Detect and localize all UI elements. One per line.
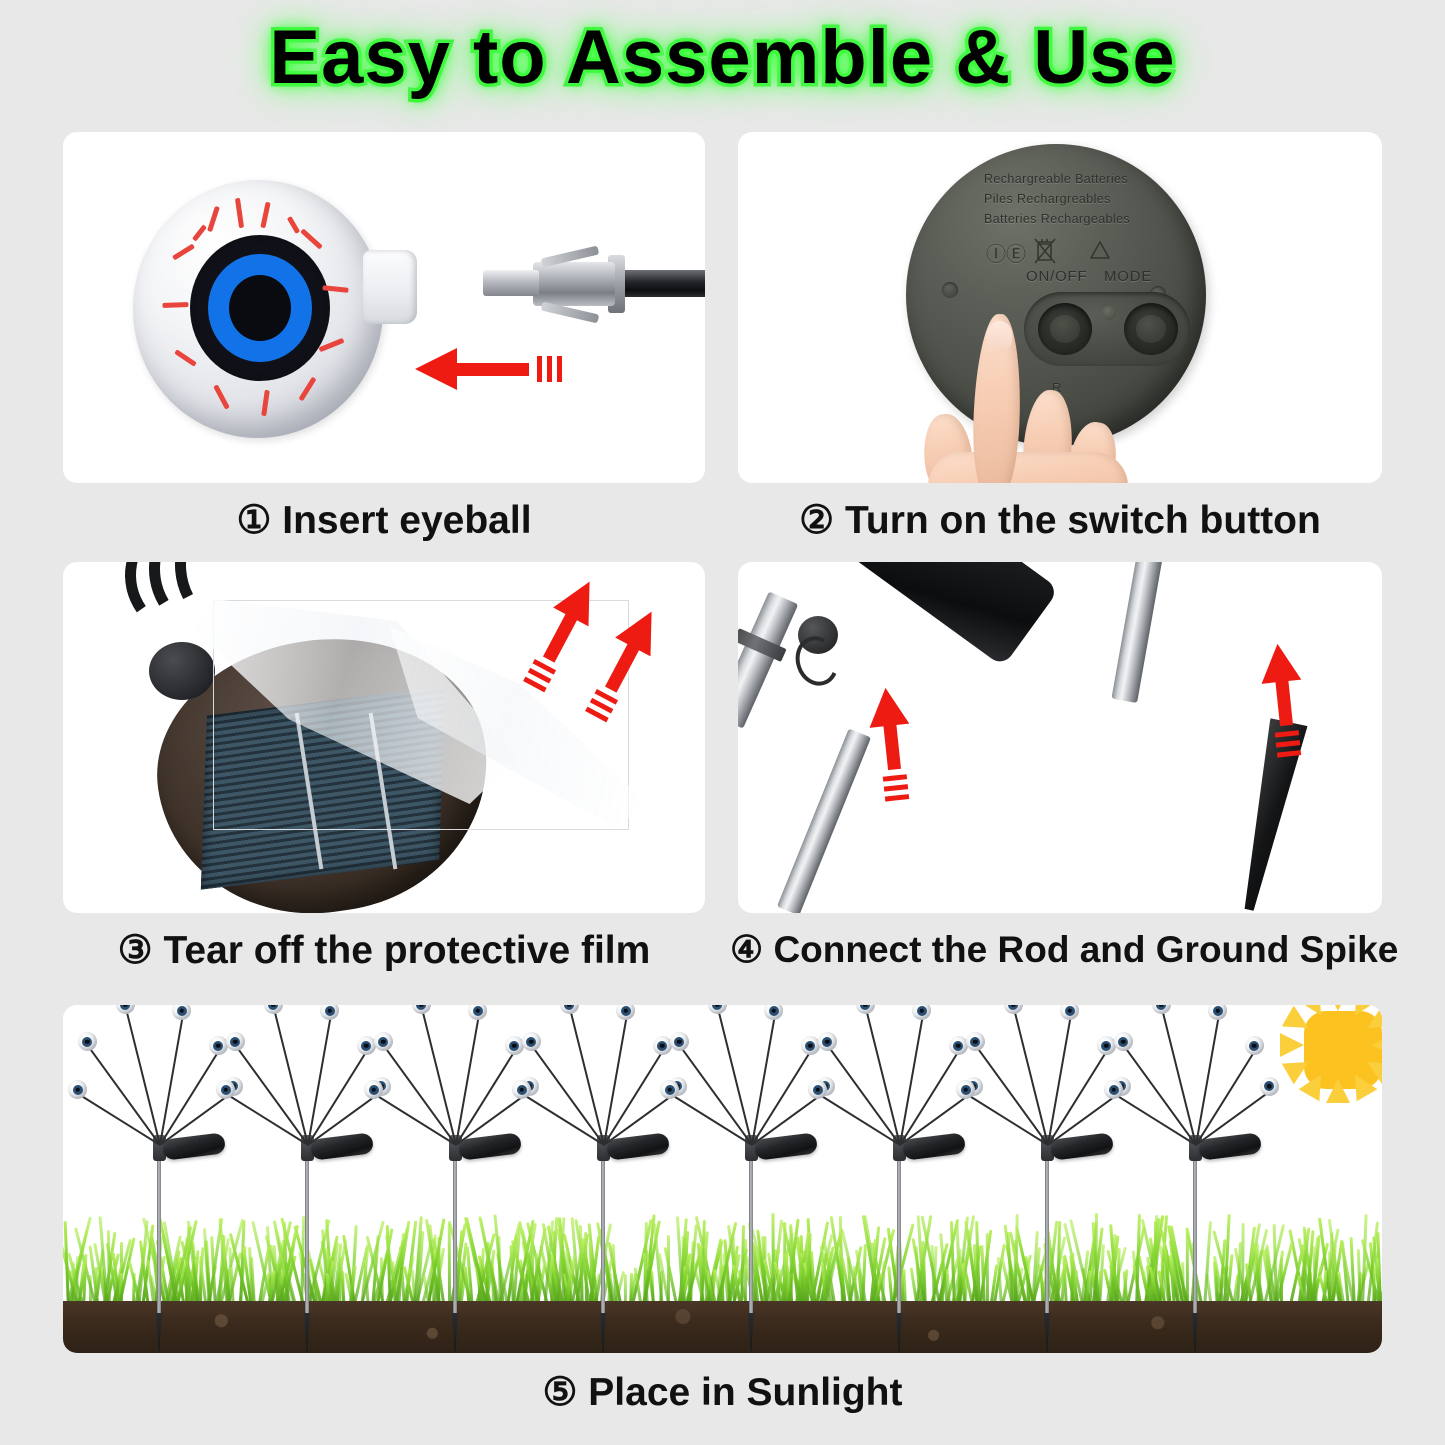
light-stem [531, 1046, 604, 1146]
step-4-caption: ④ Connect the Rod and Ground Spike [730, 928, 1390, 971]
step-5-image-panel [63, 1005, 1382, 1353]
light-stem [383, 1046, 456, 1146]
step-1-image-panel [63, 132, 705, 483]
light-pole [749, 1143, 753, 1325]
garden-light [967, 1023, 1127, 1353]
eyeball-light-head [357, 1036, 376, 1055]
eyeball-light-head [856, 1005, 875, 1014]
ground-rod [1111, 562, 1166, 703]
grass-blade [64, 1221, 70, 1309]
eye-vein [235, 198, 244, 228]
eyeball-light-head [209, 1036, 228, 1055]
garden-light [523, 1023, 683, 1353]
light-pole [897, 1143, 901, 1325]
eye-vein [172, 244, 195, 261]
light-ground-spike [748, 1313, 754, 1353]
eyeball-light-head [116, 1005, 135, 1014]
rod-upper-section [738, 591, 798, 728]
palm [928, 452, 1128, 483]
button-pod [1024, 292, 1190, 366]
light-pole [601, 1143, 605, 1325]
light-ground-spike [156, 1313, 162, 1353]
eyeball-light-head [172, 1005, 191, 1020]
eyeball-light-head [966, 1032, 985, 1051]
on-off-button-cap [1050, 315, 1080, 343]
eye-vein [192, 224, 207, 241]
on-off-button[interactable] [1038, 303, 1092, 355]
eye-vein [260, 202, 270, 228]
garden-light [1115, 1023, 1275, 1353]
weee-bin-icon [1032, 236, 1058, 266]
eyeball-light-head [949, 1036, 968, 1055]
eyeball-light-head [708, 1005, 727, 1014]
light-pole [1045, 1143, 1049, 1325]
eyeball-light-head [320, 1005, 339, 1020]
light-stem [235, 1046, 308, 1146]
sun-icon [1286, 1005, 1382, 1097]
eyeball-iris [190, 235, 330, 381]
eyeball-light-head [560, 1005, 579, 1014]
eyeball-light-head [818, 1032, 837, 1051]
light-sensor-icon [1102, 306, 1116, 320]
step-2-image-panel: Rechargreable Batteries Piles Rechargrea… [738, 132, 1382, 483]
garden-scene [63, 1005, 1382, 1353]
light-ground-spike [600, 1313, 606, 1353]
recycle-triangle-icon [1086, 238, 1114, 264]
eyeball-light-head [1152, 1005, 1171, 1014]
battery-label-line-2: Piles Rechargreables [984, 192, 1111, 206]
eye-vein [207, 206, 220, 232]
light-pole [1193, 1143, 1197, 1325]
eye-vein [261, 390, 270, 416]
eyeball-light-head [801, 1036, 820, 1055]
eyeball-light-head [505, 1036, 524, 1055]
eyeball-light-head [468, 1005, 487, 1020]
step-2-caption: ② Turn on the switch button [738, 498, 1382, 543]
on-off-label: ON/OFF [1026, 268, 1087, 285]
eyeball-light-head [226, 1032, 245, 1051]
light-ground-spike [896, 1313, 902, 1353]
base-screw [942, 282, 958, 298]
eyeball-light-head [264, 1005, 283, 1014]
eyeball-light-head [522, 1032, 541, 1051]
light-ground-spike [452, 1313, 458, 1353]
eyeball-light-head [78, 1032, 97, 1051]
eyeball-socket-nub [363, 250, 417, 324]
mode-button-cap [1136, 315, 1166, 343]
lamp-head [827, 562, 1060, 667]
light-pole [305, 1143, 309, 1325]
mode-label: MODE [1104, 268, 1152, 285]
eyeball-light-head [1114, 1032, 1133, 1051]
garden-light [227, 1023, 387, 1353]
eye-vein [298, 377, 316, 402]
eye-vein [162, 302, 188, 308]
garden-light [375, 1023, 535, 1353]
eyeball-light-head [412, 1005, 431, 1014]
eyeball-light-head [764, 1005, 783, 1020]
fingernail [986, 321, 1013, 352]
rod-lower-section [777, 728, 871, 913]
step-5-caption: ⑤ Place in Sunlight [63, 1370, 1382, 1415]
battery-label-line-3: Batteries Rechargeables [984, 212, 1130, 226]
eyeball-light-head [1004, 1005, 1023, 1014]
page-title: Easy to Assemble & Use [0, 12, 1445, 104]
light-stem [975, 1046, 1048, 1146]
eyeball-light-head [1060, 1005, 1079, 1020]
mode-button[interactable] [1124, 303, 1178, 355]
light-stem [1123, 1046, 1196, 1146]
battery-label-line-1: Rechargreable Batteries [984, 172, 1128, 186]
eyeball-light-head [1260, 1077, 1279, 1096]
eyeball-light-head [616, 1005, 635, 1020]
connector-tip [483, 270, 539, 296]
connector-body [533, 262, 615, 306]
eyeball-graphic [133, 180, 383, 438]
eyeball-light-head [670, 1032, 689, 1051]
light-stem [827, 1046, 900, 1146]
step-1-caption: ① Insert eyeball [63, 498, 705, 543]
eyeball-light-head [912, 1005, 931, 1020]
light-stem [87, 1046, 160, 1146]
eyeball-light-head [1097, 1036, 1116, 1055]
garden-light [79, 1023, 239, 1353]
eyeball-light-head [1208, 1005, 1227, 1020]
eye-vein [213, 384, 230, 409]
eye-vein [300, 228, 323, 249]
light-ground-spike [1044, 1313, 1050, 1353]
eye-vein [287, 216, 300, 234]
light-ground-spike [304, 1313, 310, 1353]
connector-rod [623, 270, 705, 297]
eyeball-light-head [653, 1036, 672, 1055]
step-3-image-panel [63, 562, 705, 913]
lamp-hinge [149, 642, 215, 700]
step-4-image-panel [738, 562, 1382, 913]
ce-mark-icon: ⒾⒺ [986, 238, 1026, 267]
ground-spike [1230, 718, 1307, 913]
garden-light [671, 1023, 831, 1353]
eyeball-light-head [374, 1032, 393, 1051]
step-3-caption: ③ Tear off the protective film [63, 928, 705, 973]
garden-light [819, 1023, 979, 1353]
eyeball-light-head [1245, 1036, 1264, 1055]
light-pole [453, 1143, 457, 1325]
eye-vein [174, 349, 197, 367]
light-ground-spike [1192, 1313, 1198, 1353]
light-pole [157, 1143, 161, 1325]
light-stem [679, 1046, 752, 1146]
